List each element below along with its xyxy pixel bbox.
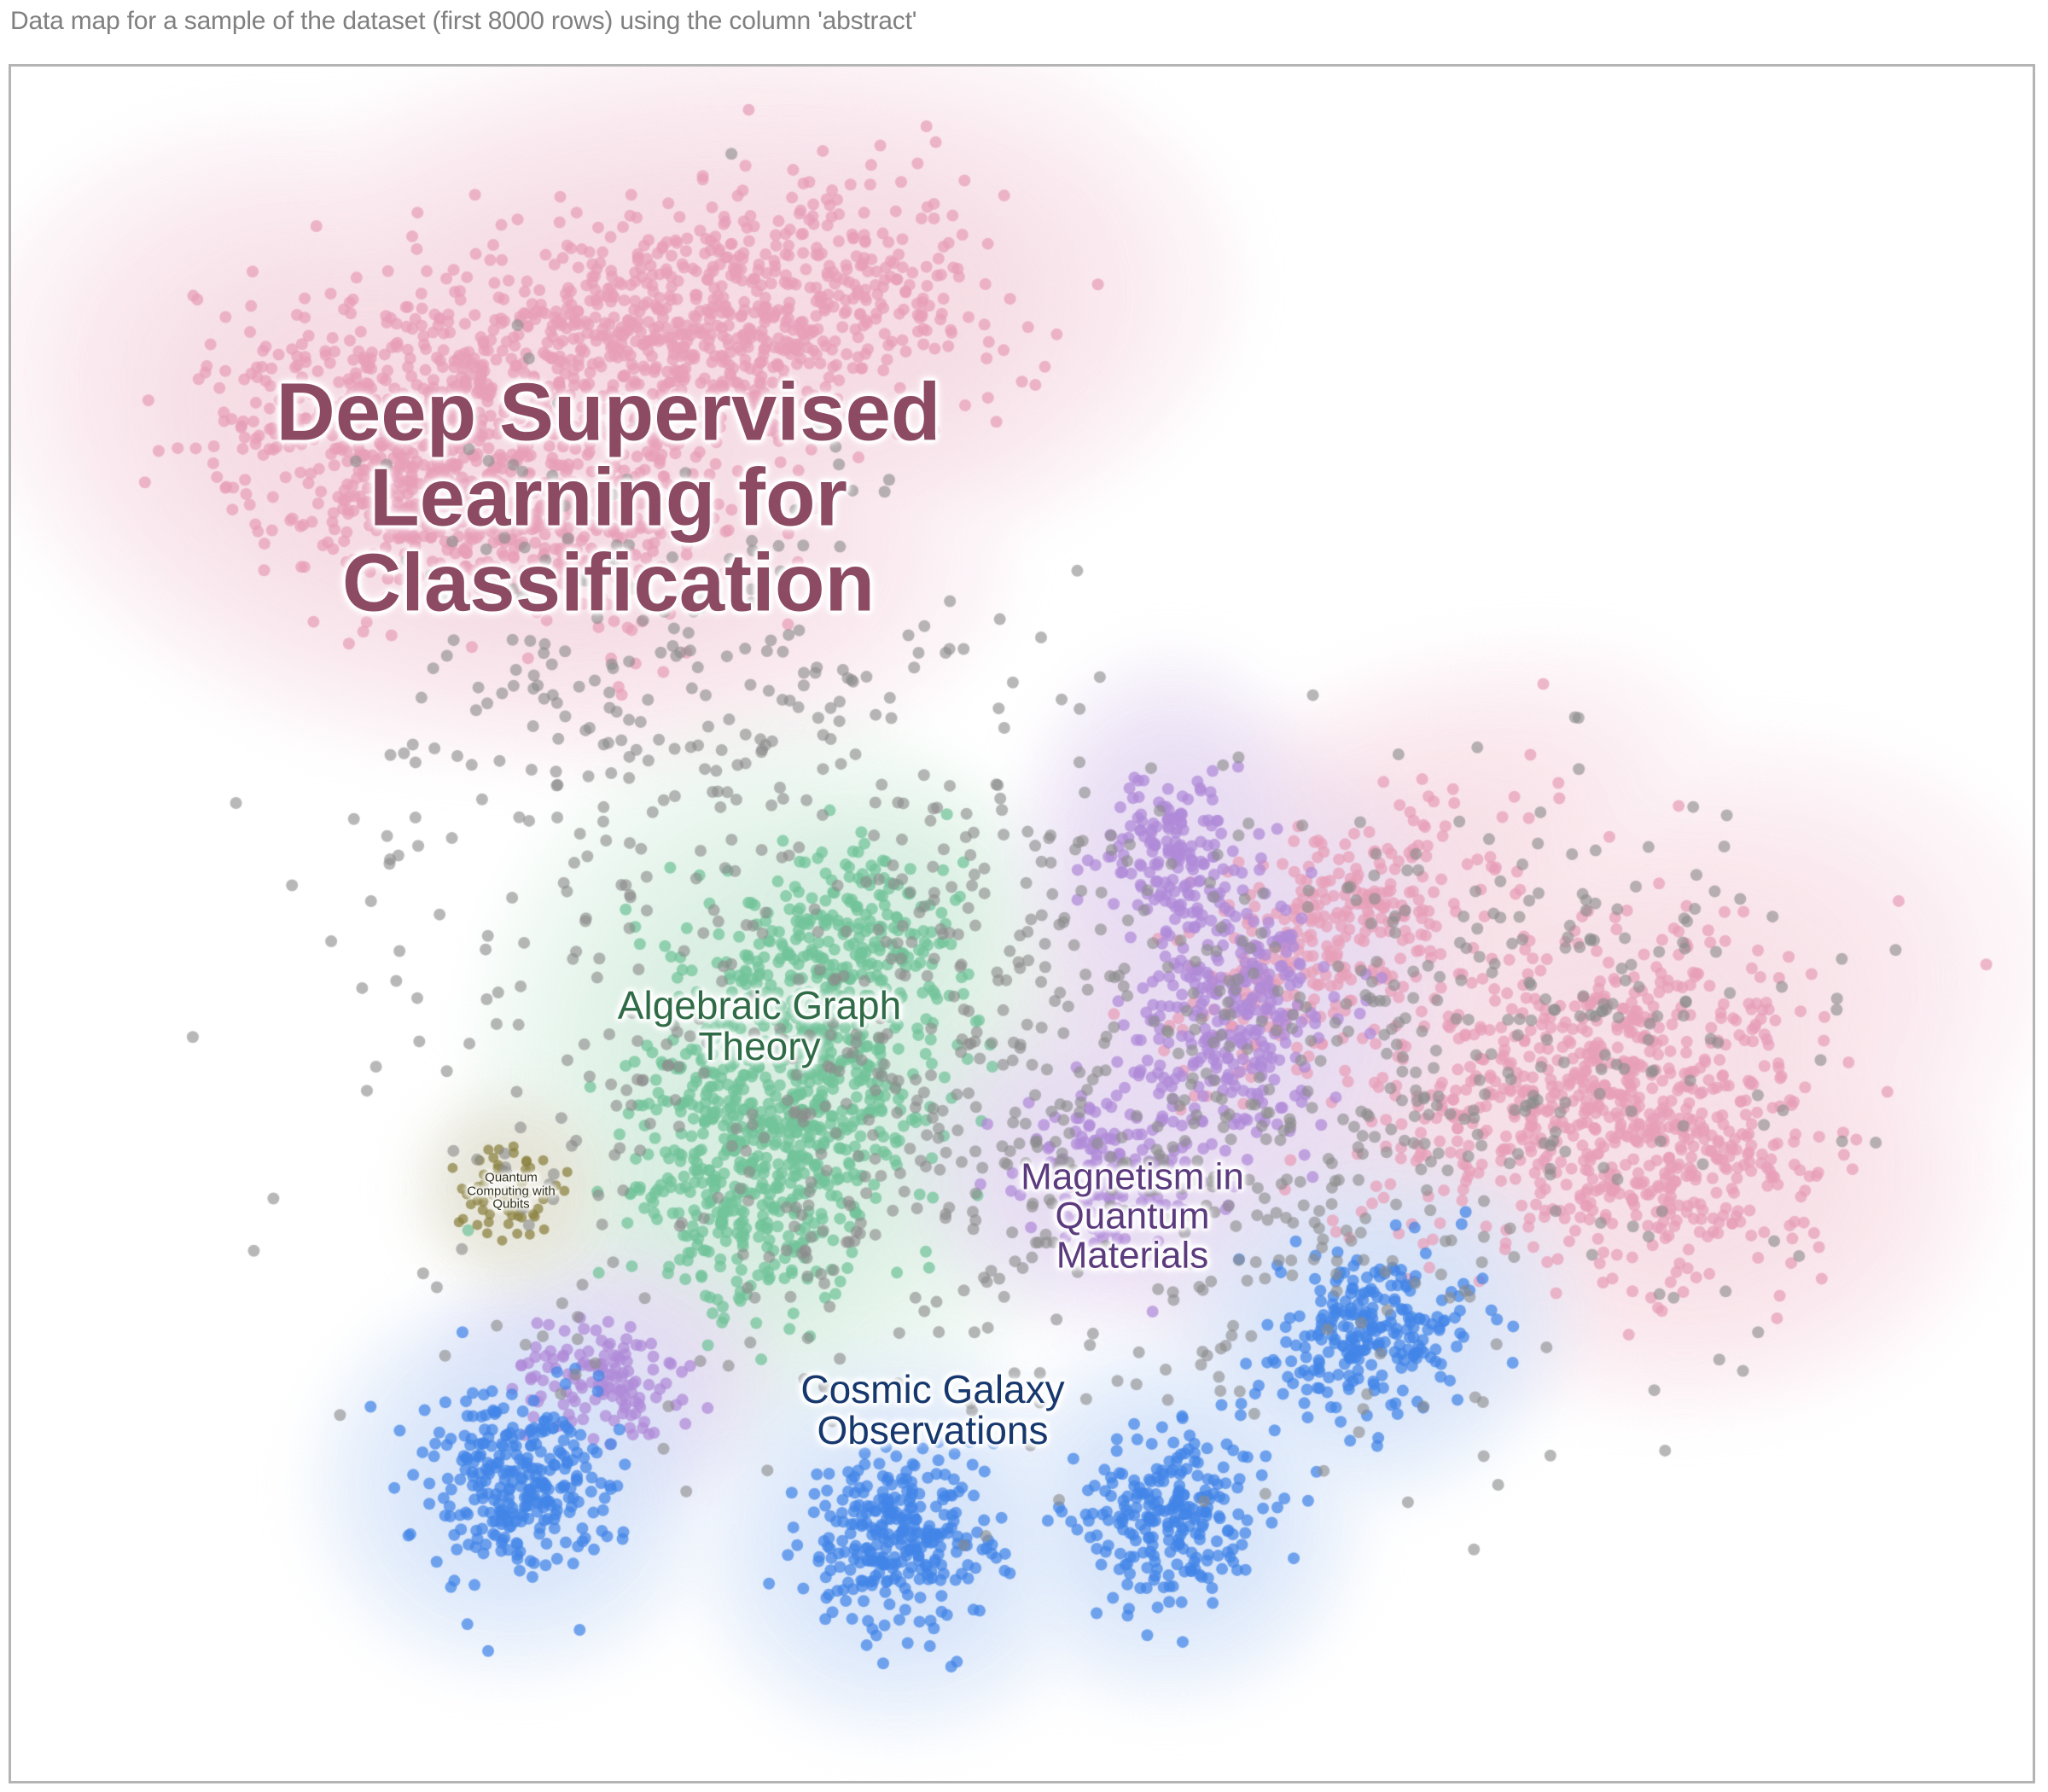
- figure-caption: Data map for a sample of the dataset (fi…: [10, 7, 916, 36]
- data-map-figure: Data map for a sample of the dataset (fi…: [0, 0, 2048, 1792]
- plot-area[interactable]: Deep Supervised Learning for Classificat…: [9, 64, 2035, 1783]
- scatter-canvas[interactable]: [11, 67, 2033, 1781]
